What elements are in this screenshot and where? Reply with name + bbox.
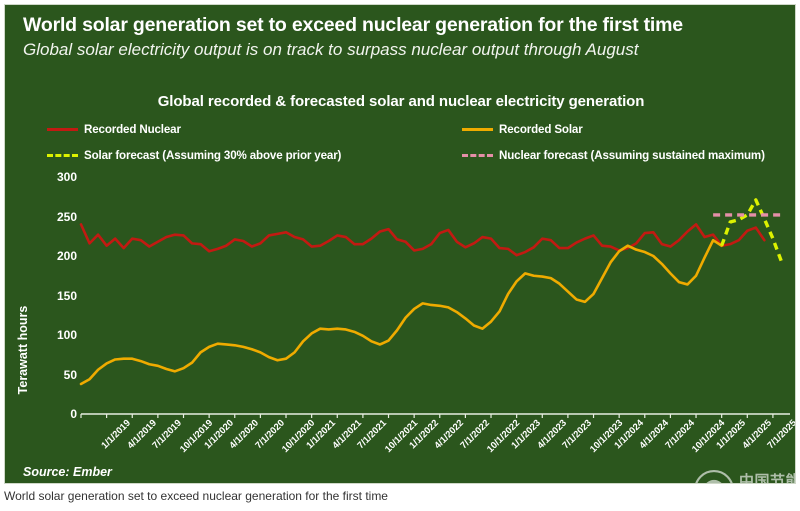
dashed-line-swatch-icon (462, 154, 493, 157)
page-caption: World solar generation set to exceed nuc… (4, 489, 388, 503)
series-line-solar-forecast-assuming-30-above-prior-year (722, 200, 782, 262)
subheadline: Global solar electricity output is on tr… (23, 39, 783, 61)
legend-item-nuclear-forecast[interactable]: Nuclear forecast (Assuming sustained max… (462, 149, 765, 162)
chart-canvas (5, 168, 796, 423)
chart-legend: Recorded Nuclear Recorded Solar Solar fo… (47, 121, 787, 167)
legend-item-recorded-nuclear[interactable]: Recorded Nuclear (47, 123, 181, 136)
ces-logo-icon (693, 469, 735, 484)
legend-label: Recorded Solar (499, 123, 583, 136)
chart-card: World solar generation set to exceed nuc… (4, 4, 796, 484)
legend-label: Nuclear forecast (Assuming sustained max… (499, 149, 765, 162)
legend-label: Solar forecast (Assuming 30% above prior… (84, 149, 341, 162)
headline: World solar generation set to exceed nuc… (23, 13, 783, 37)
series-line-recorded-solar (81, 240, 722, 384)
source-note: Source: Ember (23, 465, 112, 479)
watermark-cn-text: 中国节能网 (739, 470, 796, 484)
x-axis-ticks: 1/1/20194/1/20197/1/201910/1/20191/1/202… (5, 417, 796, 472)
legend-item-solar-forecast[interactable]: Solar forecast (Assuming 30% above prior… (47, 149, 341, 162)
plot-area: Terawatt hours 050100150200250300 (5, 168, 796, 423)
series-line-recorded-nuclear (81, 224, 764, 255)
line-swatch-icon (47, 128, 78, 131)
legend-label: Recorded Nuclear (84, 123, 181, 136)
legend-item-recorded-solar[interactable]: Recorded Solar (462, 123, 583, 136)
dashed-line-swatch-icon (47, 154, 78, 157)
line-swatch-icon (462, 128, 493, 131)
watermark: 中国节能网 CES.CN (693, 467, 796, 484)
screenshot-root: World solar generation set to exceed nuc… (0, 0, 800, 511)
chart-title: Global recorded & forecasted solar and n… (5, 93, 796, 110)
